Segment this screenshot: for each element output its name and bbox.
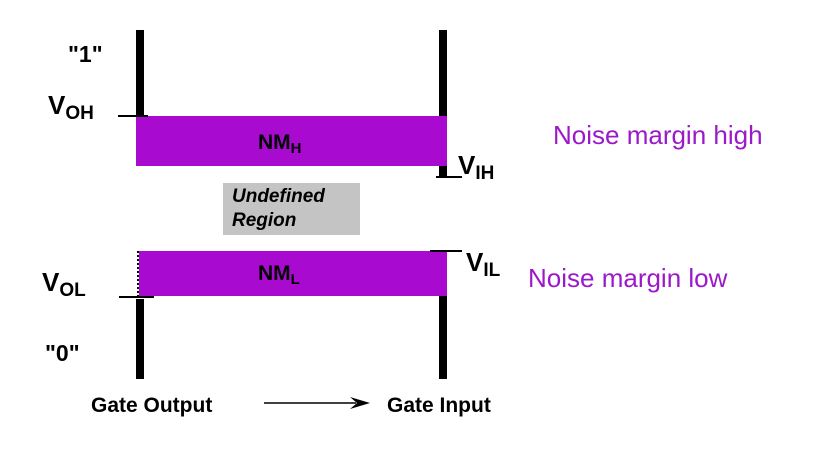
vol-subscript: OL: [59, 280, 85, 301]
undefined-region-line2: Region: [232, 209, 353, 233]
noise-margin-low-note: Noise margin low: [528, 265, 727, 291]
vil-level-tick: [430, 250, 462, 252]
gate-output-rail-lower: [136, 299, 144, 379]
vol-symbol: V: [42, 267, 59, 297]
nm-high-subscript: H: [291, 140, 302, 157]
noise-margin-high-note: Noise margin high: [553, 122, 763, 148]
noise-margin-diagram: NMH NML "1" "0" VOH VIH VIL VOL Undefine…: [0, 0, 837, 452]
gate-output-caption: Gate Output: [91, 395, 212, 416]
noise-margin-high-band-label: NMH: [258, 131, 302, 155]
vil-label: VIL: [466, 249, 500, 275]
nm-low-symbol: NM: [258, 262, 291, 285]
vol-projection-dotted-line: [137, 251, 139, 297]
undefined-region-box: Undefined Region: [223, 183, 360, 235]
flow-direction-arrow: [264, 392, 374, 412]
vil-symbol: V: [466, 247, 483, 277]
gate-input-caption: Gate Input: [387, 395, 491, 416]
voh-label: VOH: [48, 92, 94, 118]
vol-level-tick: [119, 296, 154, 298]
logic-high-label: "1": [68, 43, 103, 66]
gate-output-rail-upper: [136, 30, 144, 118]
voh-subscript: OH: [65, 103, 94, 124]
logic-low-label: "0": [45, 342, 80, 365]
nm-low-subscript: L: [291, 271, 300, 288]
voh-level-tick: [118, 115, 148, 117]
nm-high-symbol: NM: [258, 131, 291, 154]
vil-subscript: IL: [483, 260, 500, 281]
vih-label: VIH: [458, 152, 494, 178]
voh-symbol: V: [48, 90, 65, 120]
arrow-right-icon: [264, 392, 374, 412]
vol-label: VOL: [42, 269, 86, 295]
vih-subscript: IH: [475, 163, 494, 184]
vih-symbol: V: [458, 150, 475, 180]
noise-margin-low-band-label: NML: [258, 262, 300, 286]
undefined-region-line1: Undefined: [232, 185, 353, 209]
